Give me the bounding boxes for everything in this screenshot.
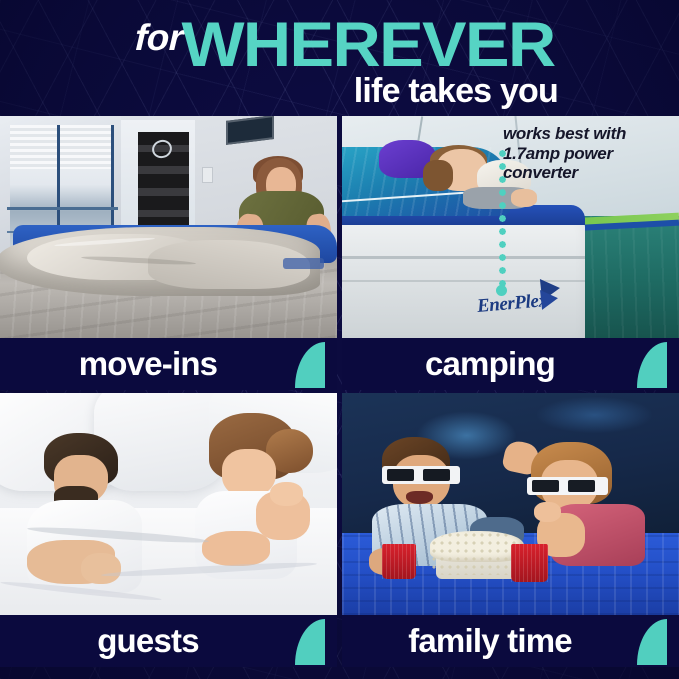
- panel-label-family-time: family time: [342, 615, 638, 667]
- panel-grid: move-ins: [0, 116, 679, 679]
- teal-wedge-accent: [295, 342, 325, 388]
- label-bar-family-time: family time: [342, 615, 679, 667]
- panel-family-time: family time: [342, 393, 679, 667]
- red-cup-right-texture: [511, 544, 548, 582]
- teal-wedge-accent: [637, 342, 667, 388]
- balcony-rail: [7, 207, 118, 210]
- panel-label-move-ins: move-ins: [0, 338, 296, 390]
- headline-prefix: for: [134, 17, 183, 59]
- brand-logo: EnerPlex: [477, 285, 592, 329]
- light-switch: [202, 167, 213, 183]
- label-bar-camping: camping: [342, 338, 679, 390]
- panel-label-guests: guests: [0, 615, 296, 667]
- panel-camping: EnerPlex works best with 1.7amp power co…: [342, 116, 679, 390]
- girl-hand: [534, 502, 561, 522]
- woman-arm-lower: [202, 531, 269, 567]
- header: forWHEREVER life takes you: [0, 0, 679, 118]
- screen-glow-b: [537, 397, 652, 433]
- headline: forWHEREVER: [0, 9, 679, 81]
- panel-label-camping: camping: [342, 338, 638, 390]
- girl-glasses-lens-left: [532, 480, 559, 492]
- teal-wedge-accent: [295, 619, 325, 665]
- promo-image: forWHEREVER life takes you: [0, 0, 679, 679]
- photo-move-ins: [0, 116, 337, 338]
- panel-move-ins: move-ins: [0, 116, 337, 390]
- mattress-brand-mark: [283, 258, 323, 269]
- sleeper-hair-side: [423, 160, 453, 191]
- woman-hand: [270, 482, 304, 506]
- label-bar-guests: guests: [0, 615, 337, 667]
- sleeper-hand: [511, 189, 538, 207]
- boy-mouth: [406, 491, 433, 504]
- red-cup-left-texture: [382, 544, 416, 580]
- boy-glasses-lens-right: [423, 469, 450, 481]
- window-blind: [10, 125, 111, 169]
- boy-glasses-lens-left: [387, 469, 414, 481]
- photo-guests: [0, 393, 337, 615]
- panel-guests: guests: [0, 393, 337, 667]
- teal-wedge-accent: [637, 619, 667, 665]
- photo-family-time: [342, 393, 679, 615]
- brand-logo-triangle-lower: [540, 288, 559, 310]
- label-bar-move-ins: move-ins: [0, 338, 337, 390]
- air-mattress-seam-a: [342, 256, 585, 259]
- brand-logo-text: EnerPlex: [476, 290, 548, 318]
- man-hand: [81, 553, 121, 584]
- photo-camping: EnerPlex works best with 1.7amp power co…: [342, 116, 679, 338]
- callout-text: works best with 1.7amp power converter: [503, 124, 673, 183]
- girl-glasses-lens-right: [568, 480, 595, 492]
- headline-emphasis: WHEREVER: [182, 9, 555, 81]
- headline-subtitle: life takes you: [354, 72, 558, 111]
